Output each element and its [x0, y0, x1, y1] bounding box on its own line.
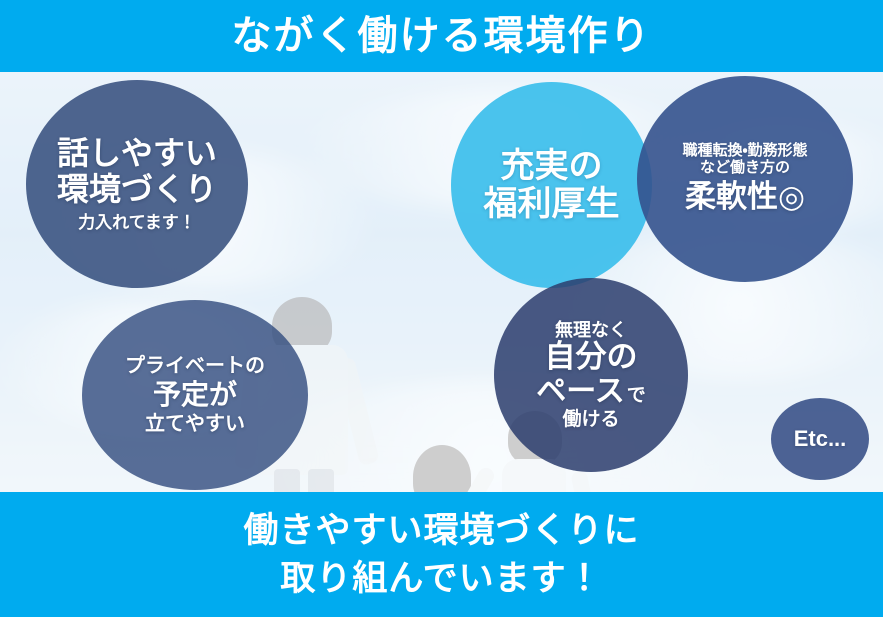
bubble-pace-line-3-suffix: で: [627, 380, 646, 407]
header-banner: ながく働ける環境作り: [0, 0, 883, 72]
header-title: ながく働ける環境作り: [232, 16, 652, 56]
footer-line-2: 取り組んでいます！: [280, 558, 602, 599]
bubble-flex-line-2: など働き方の: [700, 160, 790, 177]
bubble-talk-line-1: 話しやすい: [57, 136, 217, 172]
bubble-etcetera[interactable]: Etc...: [771, 398, 869, 480]
bubble-pace-line-3-row: ペース で: [536, 375, 646, 409]
bubble-private-line-1: プライベートの: [125, 355, 265, 377]
bubble-welfare-line-1: 充実の: [501, 147, 603, 185]
bubble-pace-line-1: 無理なく: [555, 320, 627, 340]
bubble-talk-line-3: 力入れてます！: [78, 213, 196, 232]
bubble-welfare-benefits[interactable]: 充実の 福利厚生: [451, 82, 652, 288]
footer-line-1: 働きやすい環境づくりに: [243, 510, 639, 551]
bubble-pace-line-4: 働ける: [562, 409, 619, 430]
bubble-talk-line-2: 環境づくり: [57, 172, 217, 208]
bubble-pace-line-2: 自分の: [545, 340, 638, 375]
bubble-etc-label: Etc...: [794, 427, 847, 452]
bubble-private-line-2: 予定が: [153, 379, 237, 410]
bubble-flex-line-3: 柔軟性◎: [685, 180, 805, 215]
bubble-own-pace[interactable]: 無理なく 自分の ペース で 働ける: [494, 278, 688, 472]
footer-banner: 働きやすい環境づくりに 取り組んでいます！: [0, 492, 883, 617]
bubble-flex-line-1: 職種転換・勤務形態: [682, 143, 807, 160]
bubble-private-line-3: 立てやすい: [145, 413, 245, 435]
poster-root: ながく働ける環境作り 話しやすい 環境づくり 力入れてます！ 充実の 福利厚生 …: [0, 0, 883, 617]
bubble-private-schedule[interactable]: プライベートの 予定が 立てやすい: [82, 300, 308, 490]
bubble-welfare-line-2: 福利厚生: [484, 185, 620, 223]
bubble-pace-line-3: ペース: [536, 375, 625, 409]
bubble-work-style-flexibility[interactable]: 職種転換・勤務形態 など働き方の 柔軟性◎: [637, 76, 853, 282]
bubble-talk-friendly-environment[interactable]: 話しやすい 環境づくり 力入れてます！: [26, 80, 248, 288]
